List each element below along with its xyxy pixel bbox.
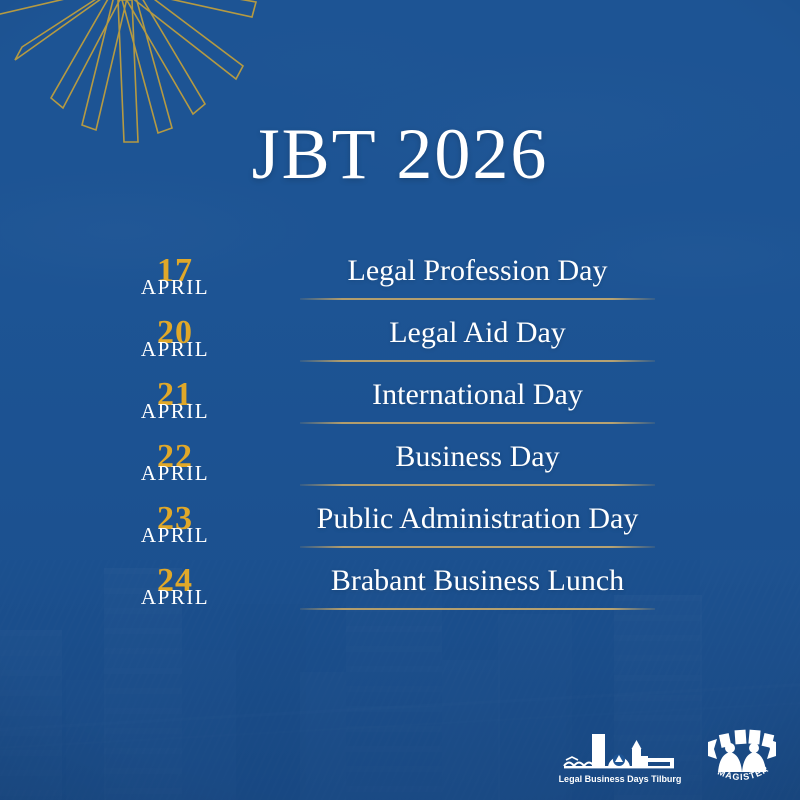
schedule-row: 23 APRIL Public Administration Day bbox=[0, 500, 800, 562]
row-divider bbox=[300, 546, 655, 548]
row-divider bbox=[300, 422, 655, 424]
schedule-row: 20 APRIL Legal Aid Day bbox=[0, 314, 800, 376]
month-label: APRIL bbox=[120, 339, 230, 360]
row-divider bbox=[300, 484, 655, 486]
legal-business-days-tilburg-logo: Legal Business Days Tilburg bbox=[556, 730, 684, 790]
logo-left-caption: Legal Business Days Tilburg bbox=[559, 774, 682, 784]
event-title: Legal Profession Day bbox=[255, 254, 700, 287]
month-label: APRIL bbox=[120, 463, 230, 484]
row-divider bbox=[300, 608, 655, 610]
date-block: 23 APRIL bbox=[120, 500, 230, 562]
page-title: JBT 2026 bbox=[0, 118, 800, 190]
month-label: APRIL bbox=[120, 525, 230, 546]
schedule-list: 17 APRIL Legal Profession Day 20 APRIL L… bbox=[0, 252, 800, 624]
schedule-row: 22 APRIL Business Day bbox=[0, 438, 800, 500]
poster: JBT 2026 17 APRIL Legal Profession Day 2… bbox=[0, 0, 800, 800]
date-block: 24 APRIL bbox=[120, 562, 230, 624]
date-block: 17 APRIL bbox=[120, 252, 230, 314]
month-label: APRIL bbox=[120, 401, 230, 422]
schedule-row: 24 APRIL Brabant Business Lunch bbox=[0, 562, 800, 624]
event-title: International Day bbox=[255, 378, 700, 411]
footer-logos: Legal Business Days Tilburg MAGISTER bbox=[556, 728, 782, 790]
magister-jft-logo: MAGISTER JFT bbox=[702, 728, 782, 790]
date-block: 20 APRIL bbox=[120, 314, 230, 376]
event-title: Public Administration Day bbox=[255, 502, 700, 535]
schedule-row: 21 APRIL International Day bbox=[0, 376, 800, 438]
month-label: APRIL bbox=[120, 277, 230, 298]
event-title: Business Day bbox=[255, 440, 700, 473]
event-title: Brabant Business Lunch bbox=[255, 564, 700, 597]
month-label: APRIL bbox=[120, 587, 230, 608]
event-title: Legal Aid Day bbox=[255, 316, 700, 349]
row-divider bbox=[300, 298, 655, 300]
date-block: 22 APRIL bbox=[120, 438, 230, 500]
date-block: 21 APRIL bbox=[120, 376, 230, 438]
row-divider bbox=[300, 360, 655, 362]
schedule-row: 17 APRIL Legal Profession Day bbox=[0, 252, 800, 314]
